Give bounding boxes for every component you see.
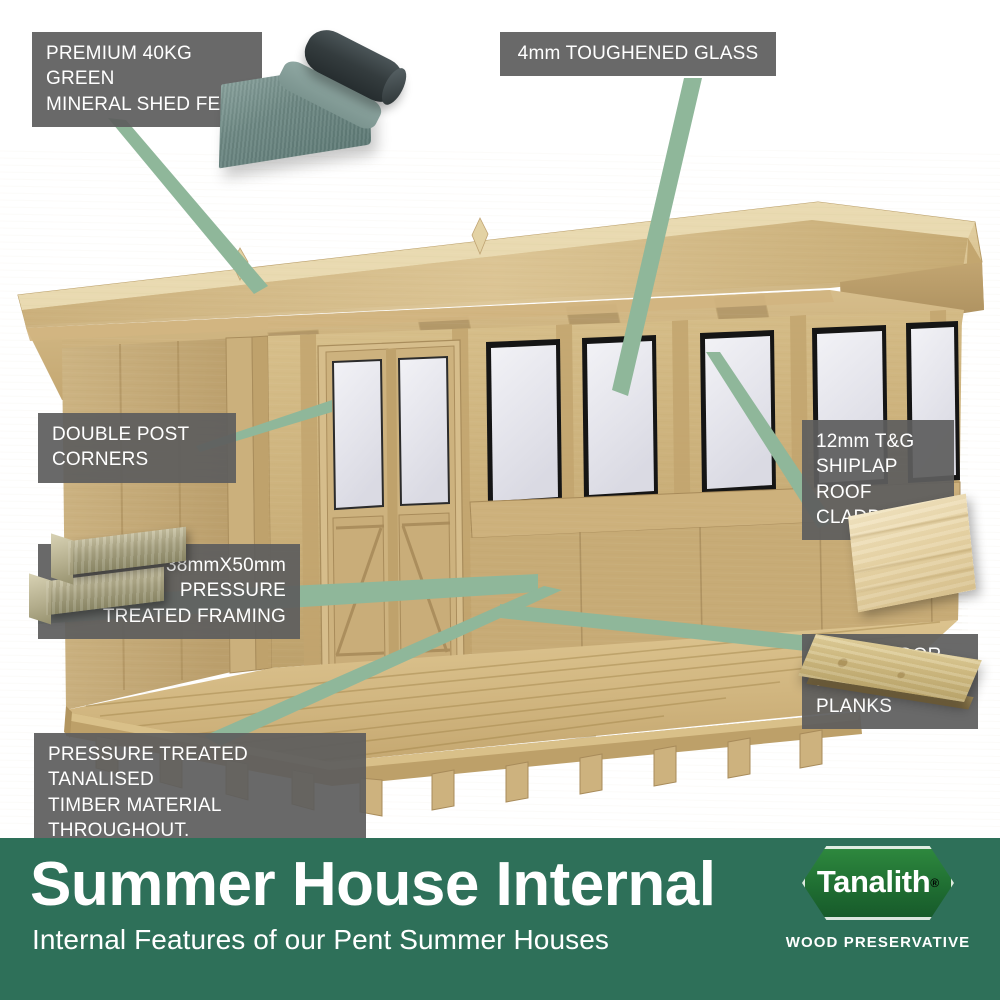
tanalith-tagline: WOOD PRESERVATIVE (778, 934, 978, 951)
callout-toughened-glass: 4mm TOUGHENED GLASS (500, 32, 776, 76)
footer-banner: Summer House Internal Internal Features … (0, 838, 1000, 1000)
tanalith-wordmark: Tanalith (817, 864, 930, 900)
callout-double-post-corners: DOUBLE POST CORNERS (38, 413, 236, 483)
infographic-canvas: PREMIUM 40KG GREEN MINERAL SHED FELT 4mm… (0, 0, 1000, 1000)
tanalith-logo: Tanalith® WOOD PRESERVATIVE (778, 846, 978, 966)
page-title: Summer House Internal (30, 854, 715, 916)
felt-roll-sample (216, 36, 406, 161)
hexagon-badge-icon: Tanalith® (802, 846, 954, 920)
callout-tanalised-timber: PRESSURE TREATED TANALISED TIMBER MATERI… (34, 733, 366, 853)
timber-batten-sample (42, 528, 192, 633)
shiplap-board-sample (852, 505, 972, 601)
page-subtitle: Internal Features of our Pent Summer Hou… (32, 924, 609, 956)
registered-trademark-icon: ® (930, 876, 939, 890)
floor-plank-sample (806, 636, 976, 722)
